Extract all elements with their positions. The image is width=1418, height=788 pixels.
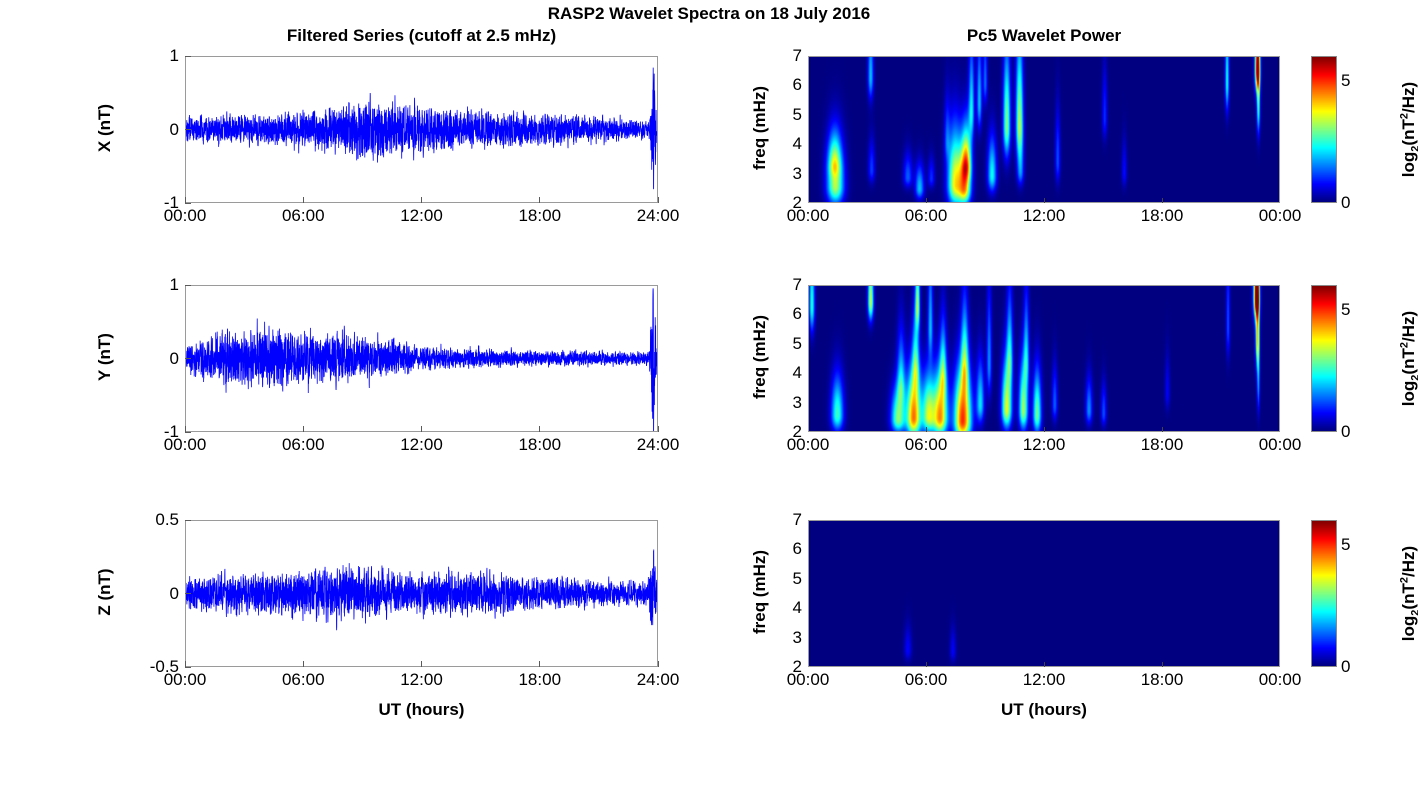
xtick-label: 00:00 <box>164 670 207 690</box>
xtick-label: 00:00 <box>787 206 830 226</box>
xtick-label: 00:00 <box>1259 670 1302 690</box>
ytick-mark <box>185 520 191 521</box>
xtick-mark <box>658 426 659 432</box>
xtick-label: 06:00 <box>282 435 325 455</box>
colorbar-tick-label: 0 <box>1341 657 1350 677</box>
xtick-label: 06:00 <box>905 670 948 690</box>
cbar-post: /Hz) <box>1399 81 1418 112</box>
ytick-label: 0 <box>109 584 179 604</box>
ytick-label: 4 <box>774 363 802 383</box>
ytick-mark <box>185 358 191 359</box>
colorbar-tick-label: 5 <box>1341 71 1350 91</box>
ytick-label: 1 <box>109 275 179 295</box>
xtick-mark <box>185 661 186 667</box>
ytick-label: 3 <box>774 628 802 648</box>
ytick-label: 0 <box>109 349 179 369</box>
timeseries-panel-x <box>185 56 658 203</box>
colorbar-tick-label: 0 <box>1341 193 1350 213</box>
spectrogram-canvas-y <box>809 286 1279 431</box>
yaxis-label-x: X (nT) <box>95 68 115 188</box>
xtick-mark <box>421 661 422 667</box>
xtick-label: 18:00 <box>518 206 561 226</box>
cbar-post: /Hz) <box>1399 310 1418 341</box>
ytick-label: 6 <box>774 75 802 95</box>
ytick-label: 6 <box>774 539 802 559</box>
ytick-label: 5 <box>774 105 802 125</box>
xtick-mark <box>1162 427 1163 432</box>
ytick-label: 4 <box>774 134 802 154</box>
xtick-mark <box>185 197 186 203</box>
xtick-mark <box>1162 198 1163 203</box>
cbar-pre: log <box>1399 151 1418 177</box>
colorbar-tick-label: 5 <box>1341 535 1350 555</box>
ytick-label: 5 <box>774 569 802 589</box>
xtick-mark <box>421 197 422 203</box>
xtick-mark <box>926 662 927 667</box>
xtick-label: 00:00 <box>1259 435 1302 455</box>
xtick-label: 12:00 <box>1023 670 1066 690</box>
cbar-sup: 2 <box>1398 577 1410 583</box>
timeseries-plot-area-z <box>185 520 658 667</box>
xtick-label: 24:00 <box>637 206 680 226</box>
xtick-label: 06:00 <box>282 206 325 226</box>
xtick-label: 00:00 <box>164 435 207 455</box>
colorbar-gradient <box>1311 520 1337 667</box>
xtick-label: 00:00 <box>164 206 207 226</box>
spectrogram-canvas-x <box>809 57 1279 202</box>
cbar-mid: (nT <box>1399 583 1418 609</box>
xtick-mark <box>539 426 540 432</box>
ytick-mark <box>185 432 191 433</box>
timeseries-trace-y <box>186 286 657 431</box>
colorbar-x <box>1311 56 1337 203</box>
ytick-label: 3 <box>774 164 802 184</box>
colorbar-z <box>1311 520 1337 667</box>
xtick-label: 18:00 <box>1141 206 1184 226</box>
xtick-mark <box>185 426 186 432</box>
yaxis-label-freq-x: freq (mHz) <box>750 68 770 188</box>
xtick-mark <box>303 661 304 667</box>
xtick-label: 12:00 <box>400 206 443 226</box>
xtick-mark <box>658 661 659 667</box>
cbar-mid: (nT <box>1399 348 1418 374</box>
yaxis-label-z: Z (nT) <box>95 532 115 652</box>
xtick-label: 06:00 <box>905 435 948 455</box>
xtick-mark <box>658 197 659 203</box>
cbar-sub: 2 <box>1410 374 1418 380</box>
xtick-mark <box>926 198 927 203</box>
xtick-mark <box>1044 662 1045 667</box>
spectrogram-panel-z <box>808 520 1280 667</box>
colorbar-canvas <box>1312 57 1336 202</box>
ytick-mark <box>185 56 191 57</box>
left-column-title: Filtered Series (cutoff at 2.5 mHz) <box>185 26 658 46</box>
xtick-label: 12:00 <box>1023 206 1066 226</box>
ytick-label: 3 <box>774 393 802 413</box>
xtick-mark <box>303 197 304 203</box>
cbar-post: /Hz) <box>1399 545 1418 576</box>
colorbar-y <box>1311 285 1337 432</box>
xtick-label: 24:00 <box>637 670 680 690</box>
colorbar-gradient <box>1311 285 1337 432</box>
cbar-pre: log <box>1399 615 1418 641</box>
timeseries-plot-area-y <box>185 285 658 432</box>
cbar-sub: 2 <box>1410 609 1418 615</box>
cbar-mid: (nT <box>1399 119 1418 145</box>
ytick-label: 7 <box>774 46 802 66</box>
cbar-pre: log <box>1399 380 1418 406</box>
colorbar-canvas <box>1312 521 1336 666</box>
xtick-label: 24:00 <box>637 435 680 455</box>
colorbar-tick-label: 0 <box>1341 422 1350 442</box>
timeseries-trace-x <box>186 57 657 202</box>
xtick-label: 18:00 <box>1141 435 1184 455</box>
xtick-label: 00:00 <box>1259 206 1302 226</box>
colorbar-gradient <box>1311 56 1337 203</box>
spectrogram-canvas-z <box>809 521 1279 666</box>
xaxis-label-right: UT (hours) <box>808 700 1280 720</box>
colorbar-tick-label: 5 <box>1341 300 1350 320</box>
xtick-mark <box>421 426 422 432</box>
colorbar-axis-label-z: log2(nT2/Hz) <box>1398 528 1418 658</box>
yaxis-label-y: Y (nT) <box>95 297 115 417</box>
xtick-mark <box>1044 427 1045 432</box>
cbar-sup: 2 <box>1398 113 1410 119</box>
timeseries-panel-y <box>185 285 658 432</box>
timeseries-trace-z <box>186 521 657 666</box>
xtick-mark <box>539 197 540 203</box>
xtick-mark <box>539 661 540 667</box>
xtick-label: 12:00 <box>400 670 443 690</box>
ytick-label: 0 <box>109 120 179 140</box>
yaxis-label-freq-y: freq (mHz) <box>750 297 770 417</box>
xtick-mark <box>1044 198 1045 203</box>
timeseries-plot-area-x <box>185 56 658 203</box>
ytick-label: 6 <box>774 304 802 324</box>
xtick-label: 00:00 <box>787 435 830 455</box>
ytick-label: 1 <box>109 46 179 66</box>
ytick-label: 5 <box>774 334 802 354</box>
xtick-label: 06:00 <box>282 670 325 690</box>
colorbar-axis-label-y: log2(nT2/Hz) <box>1398 293 1418 423</box>
yaxis-label-freq-z: freq (mHz) <box>750 532 770 652</box>
spectrogram-image-z <box>808 520 1280 667</box>
ytick-mark <box>185 593 191 594</box>
xtick-label: 18:00 <box>1141 670 1184 690</box>
timeseries-panel-z <box>185 520 658 667</box>
ytick-mark <box>185 667 191 668</box>
xtick-label: 12:00 <box>400 435 443 455</box>
ytick-label: 7 <box>774 275 802 295</box>
colorbar-canvas <box>1312 286 1336 431</box>
xaxis-label-left: UT (hours) <box>185 700 658 720</box>
right-column-title: Pc5 Wavelet Power <box>808 26 1280 46</box>
xtick-mark <box>1162 662 1163 667</box>
ytick-mark <box>185 129 191 130</box>
cbar-sub: 2 <box>1410 145 1418 151</box>
spectrogram-panel-x <box>808 56 1280 203</box>
xtick-label: 06:00 <box>905 206 948 226</box>
xtick-label: 00:00 <box>787 670 830 690</box>
xtick-mark <box>926 427 927 432</box>
xtick-mark <box>303 426 304 432</box>
spectrogram-panel-y <box>808 285 1280 432</box>
ytick-mark <box>185 285 191 286</box>
ytick-mark <box>185 203 191 204</box>
cbar-sup: 2 <box>1398 342 1410 348</box>
spectrogram-image-x <box>808 56 1280 203</box>
colorbar-axis-label-x: log2(nT2/Hz) <box>1398 64 1418 194</box>
ytick-label: 4 <box>774 598 802 618</box>
spectrogram-image-y <box>808 285 1280 432</box>
ytick-label: 0.5 <box>109 510 179 530</box>
xtick-label: 12:00 <box>1023 435 1066 455</box>
figure-canvas: RASP2 Wavelet Spectra on 18 July 2016 Fi… <box>0 0 1418 788</box>
main-title: RASP2 Wavelet Spectra on 18 July 2016 <box>0 4 1418 24</box>
xtick-label: 18:00 <box>518 670 561 690</box>
xtick-label: 18:00 <box>518 435 561 455</box>
ytick-label: 7 <box>774 510 802 530</box>
